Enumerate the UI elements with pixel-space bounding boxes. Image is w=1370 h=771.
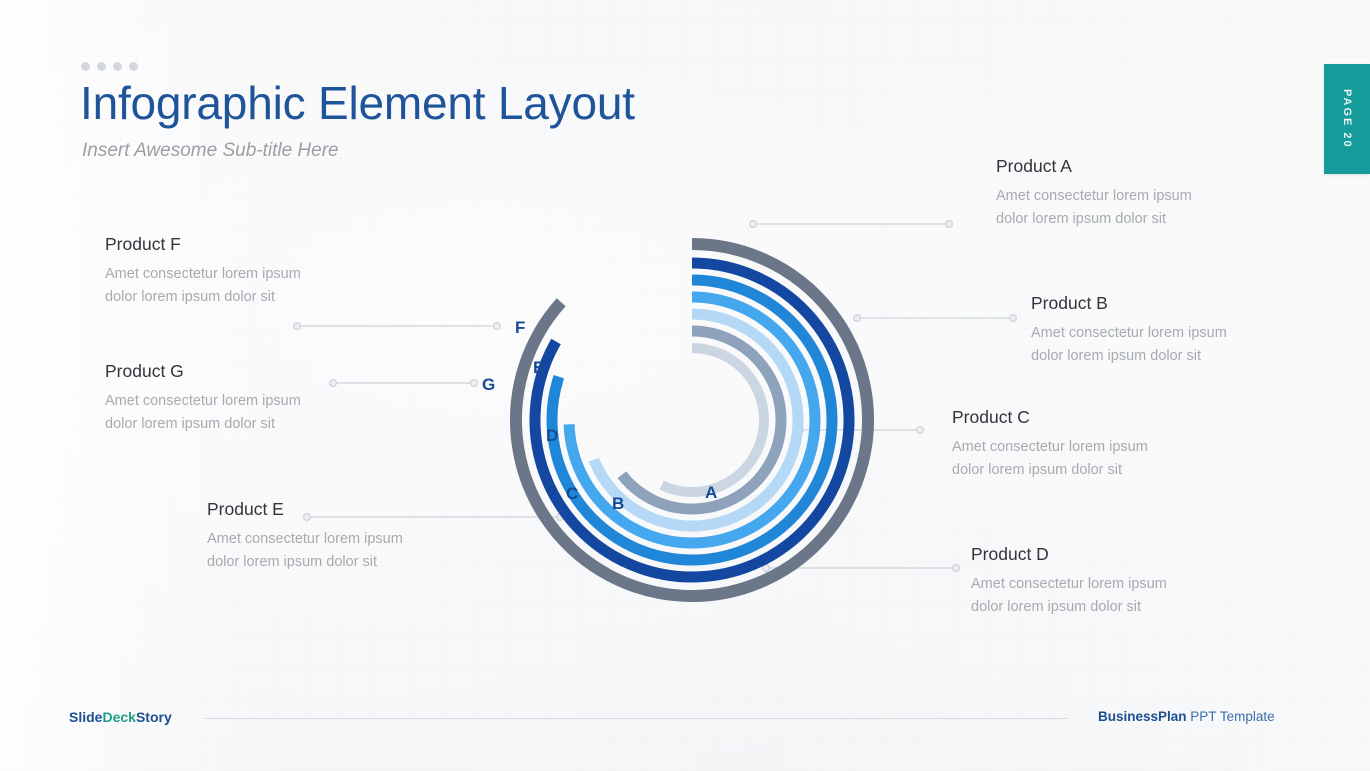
product-title-a: Product A xyxy=(996,156,1211,177)
arc-label-a: A xyxy=(705,484,717,501)
arc-label-f: F xyxy=(515,319,525,336)
arc-segment-e xyxy=(552,280,832,560)
arc-segment-a xyxy=(662,348,764,492)
arc-label-d: D xyxy=(546,427,558,444)
footer-template-name: BusinessPlan PPT Template xyxy=(1098,709,1275,724)
product-title-b: Product B xyxy=(1031,293,1246,314)
arc-label-e: E xyxy=(533,359,544,376)
product-desc-a: Amet consectetur lorem ipsum dolor lorem… xyxy=(996,185,1211,230)
product-block-c: Product C Amet consectetur lorem ipsum d… xyxy=(952,407,1167,481)
product-title-g: Product G xyxy=(105,361,320,382)
product-block-f: Product F Amet consectetur lorem ipsum d… xyxy=(105,234,320,308)
arc-label-b: B xyxy=(612,495,624,512)
product-desc-d: Amet consectetur lorem ipsum dolor lorem… xyxy=(971,573,1186,618)
product-title-e: Product E xyxy=(207,499,422,520)
product-block-a: Product A Amet consectetur lorem ipsum d… xyxy=(996,156,1211,230)
product-desc-b: Amet consectetur lorem ipsum dolor lorem… xyxy=(1031,322,1246,367)
product-desc-e: Amet consectetur lorem ipsum dolor lorem… xyxy=(207,528,422,573)
footer-brand-part1: Slide xyxy=(69,709,102,725)
footer-brand: SlideDeckStory xyxy=(69,709,172,725)
footer-brand-part2: Deck xyxy=(102,709,135,725)
product-block-d: Product D Amet consectetur lorem ipsum d… xyxy=(971,544,1186,618)
product-desc-f: Amet consectetur lorem ipsum dolor lorem… xyxy=(105,263,320,308)
arc-segment-b xyxy=(622,331,781,509)
slide-canvas: Infographic Element Layout Insert Awesom… xyxy=(0,0,1370,771)
product-title-d: Product D xyxy=(971,544,1186,565)
product-title-c: Product C xyxy=(952,407,1167,428)
product-block-e: Product E Amet consectetur lorem ipsum d… xyxy=(207,499,422,573)
product-block-b: Product B Amet consectetur lorem ipsum d… xyxy=(1031,293,1246,367)
footer-brand-part3: Story xyxy=(136,709,172,725)
arc-label-c: C xyxy=(566,485,578,502)
footer-template-regular: PPT Template xyxy=(1187,709,1275,724)
product-desc-g: Amet consectetur lorem ipsum dolor lorem… xyxy=(105,390,320,435)
footer-template-bold: BusinessPlan xyxy=(1098,709,1187,724)
product-desc-c: Amet consectetur lorem ipsum dolor lorem… xyxy=(952,436,1167,481)
arc-label-g: G xyxy=(482,376,495,393)
product-block-g: Product G Amet consectetur lorem ipsum d… xyxy=(105,361,320,435)
product-title-f: Product F xyxy=(105,234,320,255)
footer-divider xyxy=(205,718,1068,719)
